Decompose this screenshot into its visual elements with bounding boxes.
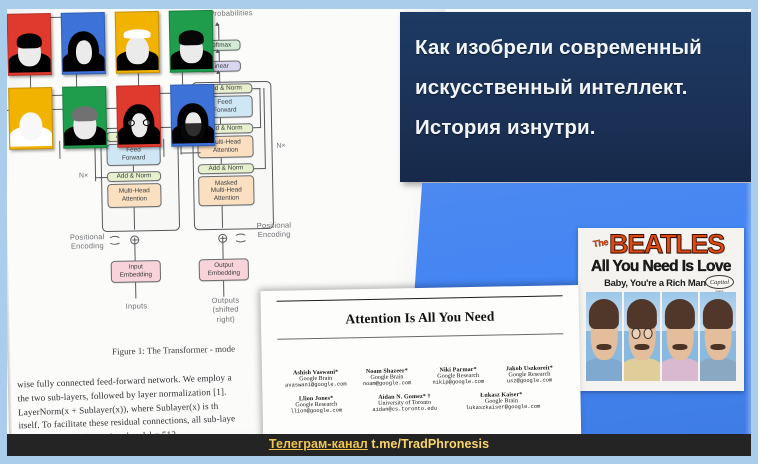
researcher-photo-tile — [62, 86, 107, 149]
diagram-line — [220, 118, 221, 124]
author-email: noam@google.com — [351, 380, 422, 387]
frame-border-right — [751, 0, 758, 464]
beatles-member-photo — [662, 292, 698, 381]
beatles-record-sleeve: The BEATLES All You Need Is Love Baby, Y… — [578, 228, 744, 391]
diagram-sum-node — [218, 234, 227, 243]
title-line-1: Как изобрели современный — [415, 28, 741, 68]
paper-author: Jakob Uszkoreit* Google Research usz@goo… — [494, 365, 566, 384]
paper-author: Aidan N. Gomez* † University of Toronto … — [369, 394, 441, 413]
capitol-logo-text: Capitol — [706, 279, 733, 286]
diagram-sum-node — [130, 235, 139, 244]
author-email: aidan@cs.toronto.edu — [369, 406, 440, 413]
diagram-line — [254, 168, 266, 169]
beatles-member-photo — [624, 292, 660, 381]
researcher-photo-tile — [61, 12, 106, 75]
portrait-silhouette — [66, 21, 101, 70]
diagram-label-outputs-shifted: Outputs (shifted right) — [203, 295, 248, 324]
telegram-channel-banner: Телеграм-канал t.me/TradPhronesis — [7, 434, 751, 456]
diagram-line — [134, 244, 135, 260]
grid-connector — [59, 141, 60, 159]
banner-text: Телеграм-канал t.me/TradPhronesis — [7, 437, 751, 451]
diagram-block-add-norm: Add & Norm — [198, 163, 254, 174]
paper-author: Ashish Vaswani* Google Brain avaswani@go… — [280, 369, 352, 388]
frame-border-top — [0, 0, 758, 9]
portrait-silhouette — [121, 94, 156, 143]
title-card-text: Как изобрели современный искусственный и… — [415, 28, 741, 148]
paper-author-list: Ashish Vaswani* Google Brain avaswani@go… — [280, 365, 566, 422]
diagram-line — [223, 281, 224, 297]
portrait-silhouette — [67, 95, 102, 144]
diagram-block-add-norm: Add & Norm — [107, 171, 161, 182]
researcher-photo-tile — [116, 85, 161, 148]
paper-author: Niki Parmar* Google Research nikip@googl… — [422, 367, 494, 386]
capitol-records-logo: Capitol 5964 — [705, 275, 734, 291]
diagram-arrow — [216, 70, 220, 74]
sheet-rule-bottom — [277, 333, 563, 339]
banner-telegram-link[interactable]: t.me/TradPhronesis — [371, 437, 489, 451]
diagram-line — [222, 243, 223, 259]
portrait-silhouette — [175, 93, 210, 142]
paper-author: Llion Jones* Google Research llion@googl… — [280, 395, 352, 414]
diagram-label-inputs: Inputs — [115, 301, 157, 311]
diagram-block-masked-multi-head-attention: Masked Multi-Head Attention — [198, 175, 255, 206]
title-line-2: искусственный интеллект. — [415, 68, 741, 108]
paper-author: Noam Shazeer* Google Brain noam@google.c… — [351, 368, 423, 387]
diagram-sine-icon — [108, 236, 121, 245]
beatles-member-photo — [586, 292, 622, 381]
researcher-photo-tile — [115, 11, 160, 74]
title-line-3: История изнутри. — [415, 108, 741, 148]
diagram-line — [135, 282, 136, 298]
author-email: avaswani@google.com — [280, 381, 351, 388]
diagram-block-input-embedding: Input Embedding — [111, 260, 161, 283]
sheet-rule-top — [277, 295, 563, 302]
diagram-label-positional-encoding-left: Positional Encoding — [68, 232, 106, 251]
portrait-silhouette — [12, 22, 47, 71]
diagram-line — [95, 177, 107, 178]
diagram-line — [218, 24, 219, 40]
album-b-side-title: Baby, You're a Rich Man — [589, 277, 721, 288]
researcher-photo-tile — [7, 13, 52, 76]
banner-prefix: Телеграм-канал — [269, 437, 368, 451]
portrait-silhouette — [120, 20, 155, 69]
author-email: lukaszkaiser@google.com — [466, 404, 537, 411]
grid-connector — [163, 139, 164, 157]
album-the-label: The — [592, 237, 608, 249]
diagram-label-positional-encoding-right: Positional Encoding — [254, 220, 294, 240]
author-email: usz@google.com — [494, 377, 565, 384]
author-email: nikip@google.com — [423, 379, 494, 386]
beatles-member-photo — [700, 292, 736, 381]
frame-border-left — [0, 0, 7, 464]
title-card: Как изобрели современный искусственный и… — [400, 12, 752, 182]
paper-title: Attention Is All You Need — [261, 307, 579, 329]
diagram-block-output-embedding: Output Embedding — [199, 258, 249, 281]
portrait-silhouette — [174, 19, 209, 68]
diagram-arrow — [215, 22, 219, 26]
paper-author: Łukasz Kaiser* Google Brain lukaszkaiser… — [466, 392, 538, 411]
researcher-photo-tile — [169, 10, 214, 73]
frame-border-bottom — [0, 456, 758, 464]
diagram-label-nx-right: N× — [276, 143, 285, 150]
diagram-sine-icon — [234, 233, 247, 242]
album-a-side-title: All You Need Is Love — [586, 259, 736, 275]
author-email: llion@google.com — [281, 407, 352, 414]
diagram-line — [133, 166, 134, 172]
diagram-line — [252, 88, 260, 89]
beatles-member-photos — [586, 292, 736, 381]
diagram-arrow — [216, 49, 220, 53]
portrait-silhouette — [13, 96, 48, 145]
album-artist-name: BEATLES — [609, 231, 724, 258]
researcher-photo-grid — [1, 2, 208, 158]
researcher-photo-tile — [8, 87, 53, 150]
diagram-line — [221, 158, 222, 164]
researcher-photo-tile — [170, 84, 215, 147]
diagram-label-nx-left: N× — [79, 172, 88, 179]
screenshot-canvas: Output Probabilities Softmax Linear Add … — [0, 0, 758, 464]
diagram-line — [253, 127, 261, 128]
diagram-block-multi-head-attention: Multi-Head Attention — [107, 183, 161, 208]
